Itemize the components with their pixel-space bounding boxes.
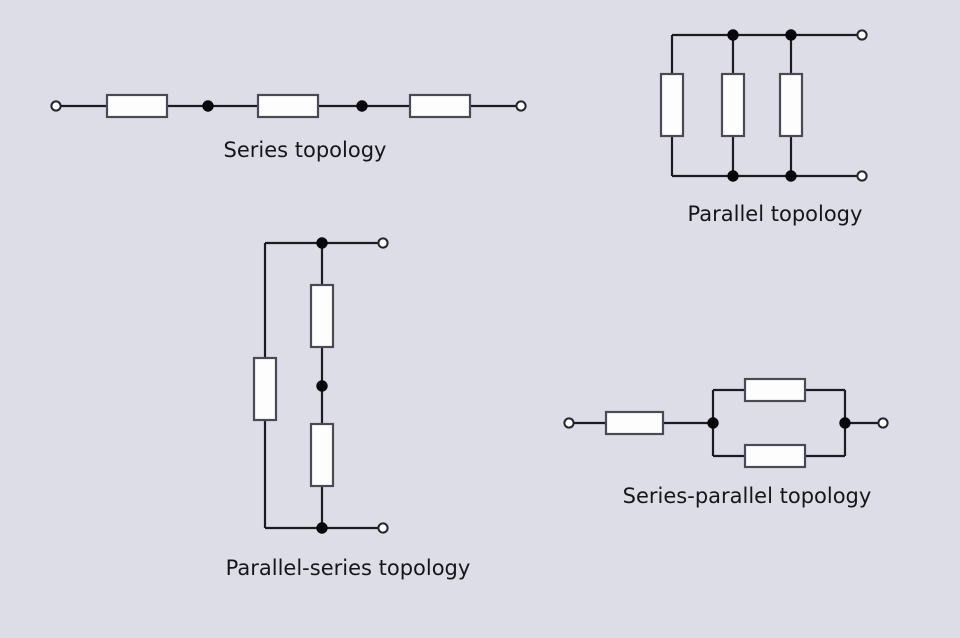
open-terminal-node	[378, 523, 387, 532]
diagram-label-parallel-series-topology: Parallel-series topology	[226, 556, 471, 580]
junction-dot	[840, 418, 850, 428]
resistor-symbol	[606, 412, 663, 434]
resistor-symbol	[258, 95, 318, 117]
resistor-symbol	[745, 445, 805, 467]
junction-dot	[708, 418, 718, 428]
junction-dot	[317, 523, 327, 533]
resistor-symbol	[410, 95, 470, 117]
resistor-symbol	[661, 74, 683, 136]
junction-dot	[203, 101, 213, 111]
junction-dot	[317, 381, 327, 391]
junction-dot	[728, 30, 738, 40]
open-terminal-node	[564, 418, 573, 427]
resistor-symbol	[311, 285, 333, 347]
open-terminal-node	[51, 101, 60, 110]
diagram-label-parallel-topology: Parallel topology	[688, 202, 863, 226]
open-terminal-node	[878, 418, 887, 427]
open-terminal-node	[857, 30, 866, 39]
junction-dot	[728, 171, 738, 181]
open-terminal-node	[378, 238, 387, 247]
diagram-label-series-parallel-topology: Series-parallel topology	[623, 484, 872, 508]
junction-dot	[317, 238, 327, 248]
resistor-symbol	[780, 74, 802, 136]
resistor-symbol	[722, 74, 744, 136]
resistor-symbol	[745, 379, 805, 401]
open-terminal-node	[857, 171, 866, 180]
junction-dot	[357, 101, 367, 111]
open-terminal-node	[516, 101, 525, 110]
resistor-symbol	[254, 358, 276, 420]
resistor-symbol	[107, 95, 167, 117]
junction-dot	[786, 30, 796, 40]
resistor-symbol	[311, 424, 333, 486]
circuit-topologies-figure: Series topologyParallel topologyParallel…	[0, 0, 960, 638]
diagram-label-series-topology: Series topology	[224, 138, 387, 162]
junction-dot	[786, 171, 796, 181]
